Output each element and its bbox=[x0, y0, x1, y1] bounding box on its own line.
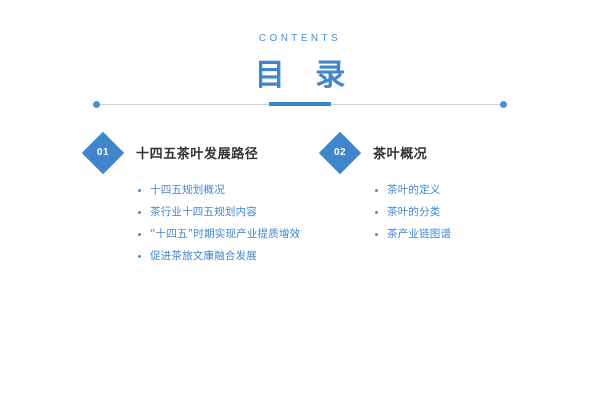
list-item[interactable]: 十四五规划概况 bbox=[138, 183, 300, 198]
list-item-label: 茶行业十四五规划内容 bbox=[150, 205, 257, 220]
list-item[interactable]: 茶叶的分类 bbox=[375, 205, 451, 220]
right-edge-strip bbox=[596, 0, 600, 403]
list-item-label: “十四五”时期实现产业提质增效 bbox=[150, 227, 300, 242]
bullet-dot-icon bbox=[138, 233, 141, 236]
bullet-dot-icon bbox=[138, 211, 141, 214]
list-item[interactable]: 茶叶的定义 bbox=[375, 183, 451, 198]
slide-canvas: CONTENTS 目 录 01 十四五茶叶发展路径 十四五规划概况 茶行业十四五… bbox=[0, 0, 600, 403]
divider-accent-bar bbox=[269, 102, 331, 106]
list-item[interactable]: 茶产业链图谱 bbox=[375, 227, 451, 242]
list-item[interactable]: “十四五”时期实现产业提质增效 bbox=[138, 227, 300, 242]
section-02-bullets: 茶叶的定义 茶叶的分类 茶产业链图谱 bbox=[375, 183, 451, 249]
list-item[interactable]: 促进茶旅文康融合发展 bbox=[138, 249, 300, 264]
list-item-label: 十四五规划概况 bbox=[150, 183, 225, 198]
bullet-dot-icon bbox=[138, 255, 141, 258]
section-01-number: 01 bbox=[88, 138, 118, 168]
divider-dot-left bbox=[93, 101, 100, 108]
list-item[interactable]: 茶行业十四五规划内容 bbox=[138, 205, 300, 220]
section-02-number: 02 bbox=[325, 138, 355, 168]
list-item-label: 茶叶的分类 bbox=[387, 205, 441, 220]
bullet-dot-icon bbox=[138, 189, 141, 192]
section-01-title: 十四五茶叶发展路径 bbox=[136, 143, 258, 162]
left-edge-strip bbox=[0, 0, 4, 403]
bullet-dot-icon bbox=[375, 233, 378, 236]
divider-dot-right bbox=[500, 101, 507, 108]
list-item-label: 茶叶的定义 bbox=[387, 183, 441, 198]
title-divider bbox=[93, 101, 507, 108]
page-title: 目 录 bbox=[0, 50, 600, 94]
section-01-bullets: 十四五规划概况 茶行业十四五规划内容 “十四五”时期实现产业提质增效 促进茶旅文… bbox=[138, 183, 300, 271]
bullet-dot-icon bbox=[375, 211, 378, 214]
contents-eyebrow: CONTENTS bbox=[0, 33, 600, 44]
list-item-label: 促进茶旅文康融合发展 bbox=[150, 249, 257, 264]
section-02-title: 茶叶概况 bbox=[373, 143, 427, 162]
list-item-label: 茶产业链图谱 bbox=[387, 227, 451, 242]
bullet-dot-icon bbox=[375, 189, 378, 192]
